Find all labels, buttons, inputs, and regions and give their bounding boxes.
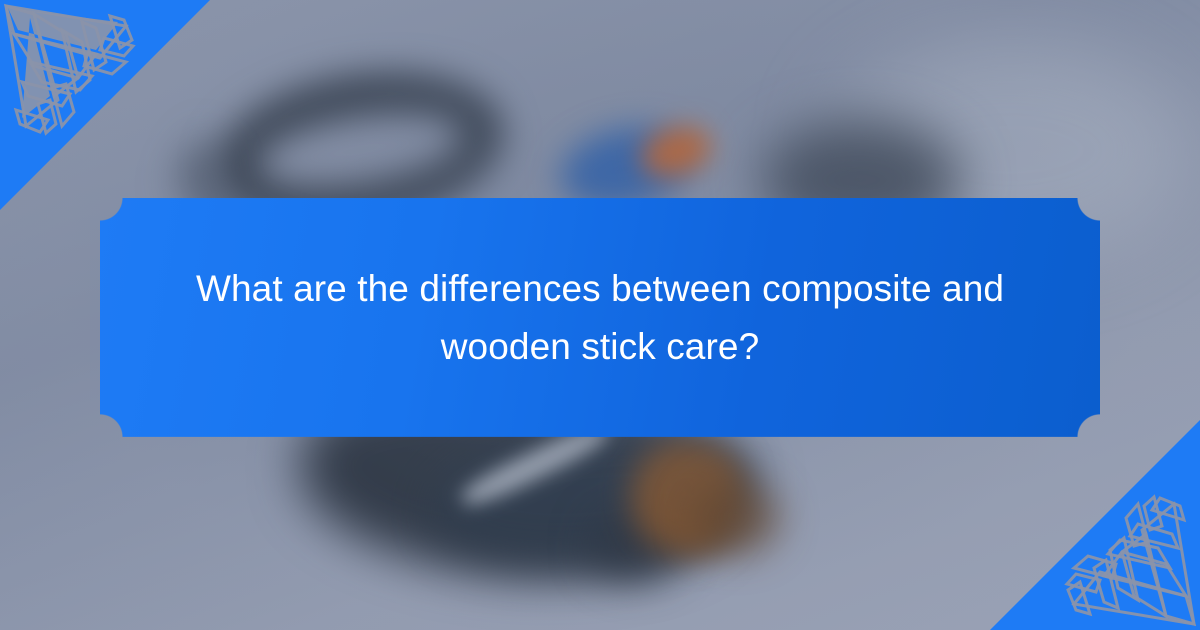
headline-banner: What are the differences between composi…: [100, 198, 1100, 437]
photo-dark-bag-shadow: [424, 413, 766, 577]
photo-orange-accent: [634, 118, 717, 186]
poster-canvas: What are the differences between composi…: [0, 0, 1200, 630]
headline-text: What are the differences between composi…: [160, 260, 1040, 376]
photo-wooden-blade: [618, 428, 753, 566]
photo-wooden-blade-tip: [690, 480, 780, 555]
photo-dark-spur: [590, 510, 680, 580]
